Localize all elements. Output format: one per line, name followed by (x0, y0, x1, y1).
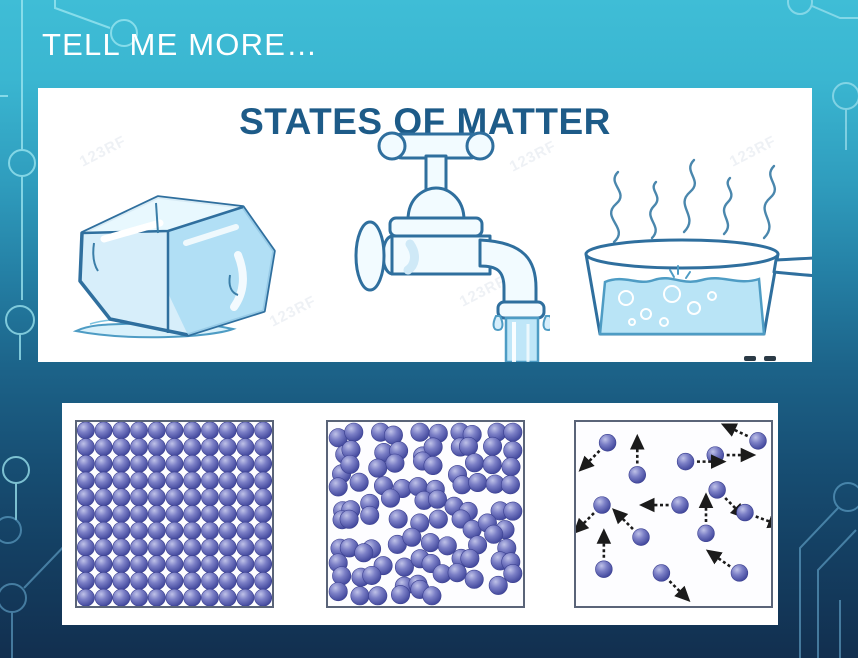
particle (219, 522, 236, 539)
particle (184, 422, 201, 439)
particle (345, 423, 363, 441)
particle (166, 572, 183, 589)
particle (483, 437, 501, 455)
particle (184, 489, 201, 506)
motion-arrow (756, 516, 771, 525)
particle (95, 438, 112, 455)
particle (355, 544, 373, 562)
particle (130, 556, 147, 573)
particle-box-gas (574, 420, 773, 608)
particle (130, 489, 147, 506)
particle (184, 455, 201, 472)
ice-cube-illustration (68, 183, 298, 348)
particle (166, 505, 183, 522)
particle (201, 505, 218, 522)
particle (504, 502, 522, 520)
particle (148, 572, 165, 589)
particle (599, 434, 616, 451)
particle (77, 438, 94, 455)
particle (148, 505, 165, 522)
liquid-particles (328, 422, 523, 606)
particle (237, 589, 254, 606)
particle (489, 576, 507, 594)
page-title: TELL ME MORE… (42, 27, 318, 63)
particle (341, 455, 359, 473)
particle (166, 472, 183, 489)
particle (95, 505, 112, 522)
particle (465, 570, 483, 588)
particle (350, 473, 368, 491)
particle (201, 472, 218, 489)
particle (672, 497, 689, 514)
particle (201, 556, 218, 573)
particle (255, 438, 272, 455)
states-of-matter-picture: STATES OF MATTER 123RF 123RF 123RF 123RF… (38, 88, 812, 362)
gas-particles (576, 422, 771, 606)
particle (184, 438, 201, 455)
particle (237, 472, 254, 489)
particle (77, 522, 94, 539)
particle (594, 497, 611, 514)
particle (130, 422, 147, 439)
particle (504, 423, 522, 441)
particle (504, 564, 522, 582)
particle (381, 489, 399, 507)
particle (255, 572, 272, 589)
particle (184, 539, 201, 556)
particle (113, 505, 130, 522)
particle (166, 522, 183, 539)
motion-arrow (708, 551, 730, 566)
particle (255, 505, 272, 522)
particle (219, 589, 236, 606)
particle (469, 473, 487, 491)
particle (166, 438, 183, 455)
motion-arrow (576, 513, 594, 532)
particle (201, 422, 218, 439)
particle (465, 454, 483, 472)
particle (95, 556, 112, 573)
particle (184, 522, 201, 539)
particle (95, 472, 112, 489)
particle (148, 539, 165, 556)
particle-box-liquid (326, 420, 525, 608)
particle (219, 556, 236, 573)
slide: TELL ME MORE… STATES OF MATTER 123RF 123… (0, 0, 858, 658)
particle (389, 510, 407, 528)
particle (403, 528, 421, 546)
particle (77, 505, 94, 522)
particle (363, 566, 381, 584)
particle (255, 556, 272, 573)
cropped-caption-mark (744, 356, 756, 361)
particle (201, 438, 218, 455)
motion-arrow (669, 581, 688, 600)
particle (237, 522, 254, 539)
particle (113, 556, 130, 573)
particle (255, 422, 272, 439)
particle (255, 589, 272, 606)
particle (148, 522, 165, 539)
particle (423, 587, 441, 605)
motion-arrow (580, 451, 599, 470)
particle (502, 458, 520, 476)
particle (113, 572, 130, 589)
particle (459, 437, 477, 455)
particle (77, 556, 94, 573)
particle (201, 522, 218, 539)
particle (219, 539, 236, 556)
particle (184, 556, 201, 573)
particle (148, 556, 165, 573)
particle (369, 459, 387, 477)
particle (113, 589, 130, 606)
particle (237, 556, 254, 573)
particle (113, 422, 130, 439)
particle (255, 522, 272, 539)
cropped-caption-mark (764, 356, 776, 361)
particle (453, 476, 471, 494)
particle (130, 539, 147, 556)
particle (501, 476, 519, 494)
particle (113, 489, 130, 506)
particle (329, 582, 347, 600)
particle (166, 489, 183, 506)
particle (201, 589, 218, 606)
particle (148, 455, 165, 472)
particle (184, 505, 201, 522)
particle (113, 472, 130, 489)
particle (698, 525, 715, 542)
particle (255, 472, 272, 489)
particle (340, 510, 358, 528)
particle (77, 472, 94, 489)
motion-arrow (723, 425, 747, 436)
particle (130, 505, 147, 522)
particle (329, 478, 347, 496)
particle (237, 505, 254, 522)
particle (483, 455, 501, 473)
particle (677, 453, 694, 470)
particle (184, 572, 201, 589)
particle (237, 438, 254, 455)
particle (166, 556, 183, 573)
particle (237, 489, 254, 506)
particle (201, 489, 218, 506)
particle (201, 455, 218, 472)
particle (361, 506, 379, 524)
particle (750, 432, 767, 449)
particle (237, 539, 254, 556)
particle (95, 572, 112, 589)
particle (77, 489, 94, 506)
particle (391, 585, 409, 603)
particle (95, 589, 112, 606)
particle (130, 472, 147, 489)
particle (461, 549, 479, 567)
water-tap-illustration (330, 110, 550, 362)
particle (428, 490, 446, 508)
particle-box-solid (75, 420, 274, 608)
particle (166, 455, 183, 472)
particle (255, 539, 272, 556)
particle (255, 489, 272, 506)
particle (219, 489, 236, 506)
particle (77, 589, 94, 606)
particle (113, 455, 130, 472)
particle (731, 565, 748, 582)
particle (633, 529, 650, 546)
particle (629, 466, 646, 483)
particle (201, 572, 218, 589)
particle (77, 422, 94, 439)
particle (332, 567, 350, 585)
particle (130, 572, 147, 589)
particle (113, 438, 130, 455)
particle (219, 572, 236, 589)
particle (77, 539, 94, 556)
particle (95, 522, 112, 539)
particle (148, 589, 165, 606)
particle (77, 455, 94, 472)
particle (148, 472, 165, 489)
particle (237, 572, 254, 589)
particle (219, 505, 236, 522)
particle (95, 489, 112, 506)
particle (369, 587, 387, 605)
particle (95, 422, 112, 439)
boiling-pot-illustration (578, 146, 812, 351)
motion-arrow (614, 510, 633, 529)
particle (709, 482, 726, 499)
particle (237, 422, 254, 439)
particle (737, 504, 754, 521)
particle (255, 455, 272, 472)
particle (448, 563, 466, 581)
particle (166, 539, 183, 556)
particle (219, 455, 236, 472)
particle (130, 438, 147, 455)
particle (148, 489, 165, 506)
particle (184, 472, 201, 489)
particle (95, 539, 112, 556)
particle (130, 522, 147, 539)
solid-particles (77, 422, 272, 606)
particle (504, 441, 522, 459)
particle (653, 565, 670, 582)
particle (219, 422, 236, 439)
particle (201, 539, 218, 556)
particle (95, 455, 112, 472)
particle (485, 525, 503, 543)
particle (184, 589, 201, 606)
particle (130, 455, 147, 472)
particle (424, 456, 442, 474)
particle (166, 422, 183, 439)
particle (130, 589, 147, 606)
particle (148, 422, 165, 439)
particle (438, 537, 456, 555)
particle (237, 455, 254, 472)
particle (77, 572, 94, 589)
particle (113, 522, 130, 539)
particle (113, 539, 130, 556)
particle (421, 533, 439, 551)
particle (166, 589, 183, 606)
particle (219, 438, 236, 455)
particle (595, 561, 612, 578)
particle-diagram-panel (62, 403, 778, 625)
particle (386, 454, 404, 472)
particle (148, 438, 165, 455)
particle (411, 423, 429, 441)
particle (429, 510, 447, 528)
particle (219, 472, 236, 489)
particle (351, 587, 369, 605)
